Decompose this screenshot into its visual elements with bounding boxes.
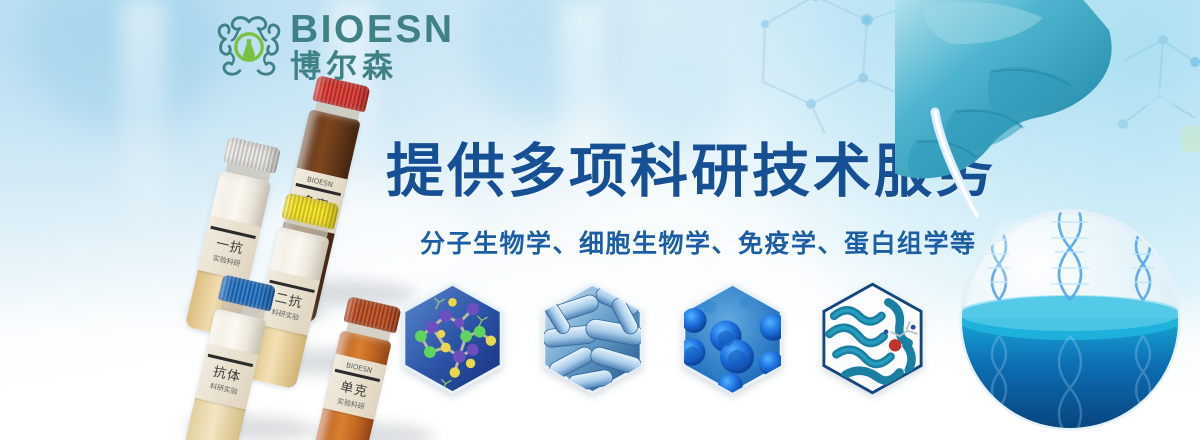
cells-icon[interactable] [676, 282, 789, 395]
brand-name-cn: 博尔森 [290, 52, 455, 83]
service-icon-row [396, 282, 929, 395]
bacteria-icon[interactable] [536, 282, 649, 395]
molecular-network-icon[interactable] [396, 282, 509, 395]
flask-in-circle-swirl-icon [216, 14, 282, 80]
molecule-lattice-icon [1118, 35, 1200, 152]
brand-logo-text: BIOESN 博尔森 [290, 10, 455, 83]
gloved-hand-icon [895, 0, 1112, 179]
brand-logo[interactable]: BIOESN 博尔森 [216, 10, 455, 83]
page-subtitle: 分子生物学、细胞生物学、免疫学、蛋白组学等 [420, 224, 977, 260]
banner-root: BIOESN 博尔森 BIOESN 多克 实验科研 一抗 实验科研 [0, 0, 1200, 440]
brand-name-en: BIOESN [290, 10, 455, 49]
right-artwork [895, 0, 1200, 440]
background-light-stripe [120, 0, 166, 250]
